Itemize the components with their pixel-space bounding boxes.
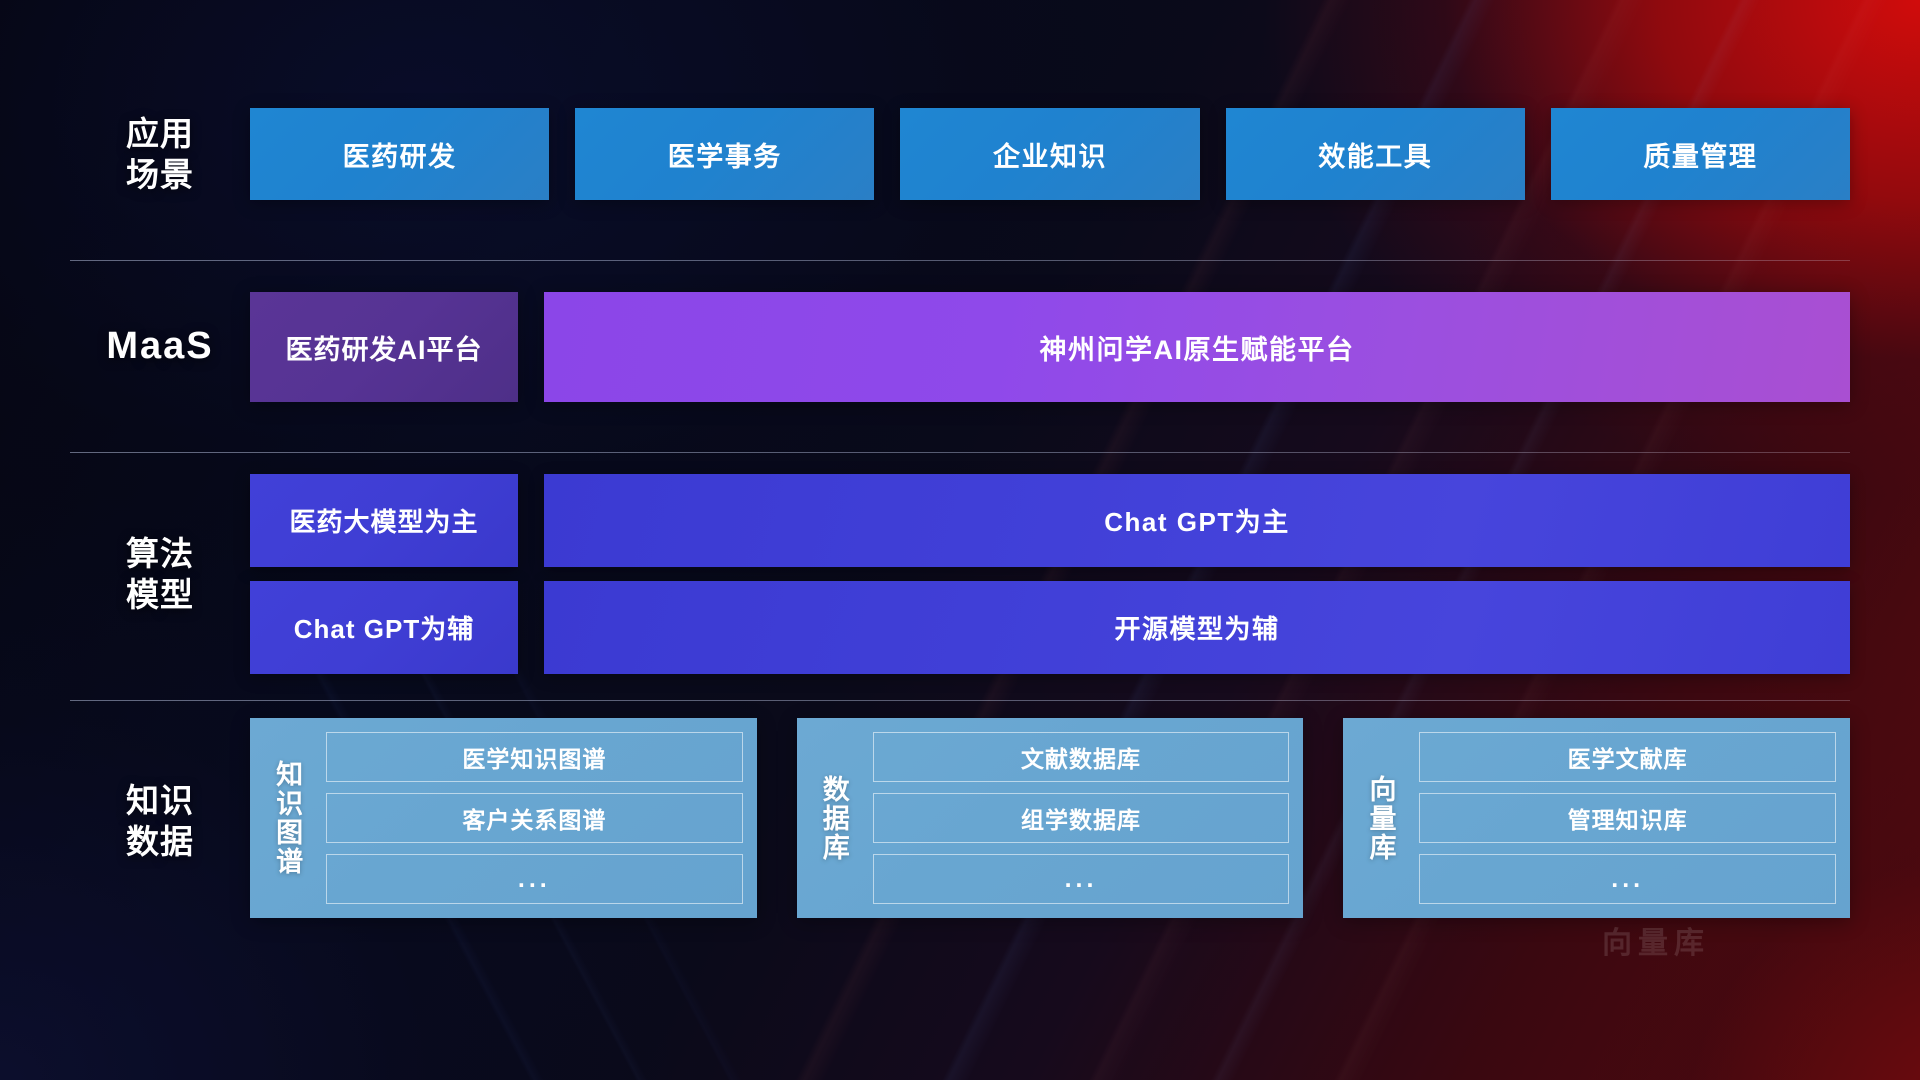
row-label-knowledge-data: 知识 数据 — [70, 718, 250, 863]
algorithm-line-secondary: Chat GPT为辅 开源模型为辅 — [250, 581, 1850, 674]
algorithm-line-primary: 医药大模型为主 Chat GPT为主 — [250, 474, 1850, 567]
app-card-quality-management[interactable]: 质量管理 — [1551, 108, 1850, 200]
algo-card-pharma-llm-primary[interactable]: 医药大模型为主 — [250, 474, 518, 567]
knowledge-group-vector-store[interactable]: 向量库 医学文献库 管理知识库 ... — [1343, 718, 1850, 918]
algo-card-opensource-secondary[interactable]: 开源模型为辅 — [544, 581, 1850, 674]
algorithm-lines: 医药大模型为主 Chat GPT为主 Chat GPT为辅 开源模型为辅 — [250, 474, 1850, 674]
row-body-application-scenarios: 医药研发 医学事务 企业知识 效能工具 质量管理 — [250, 108, 1850, 200]
knowledge-item-customer-relation-graph[interactable]: 客户关系图谱 — [326, 793, 743, 843]
knowledge-item-more-ellipsis[interactable]: ... — [326, 854, 743, 904]
knowledge-item-list: 医学文献库 管理知识库 ... — [1419, 732, 1836, 904]
divider-application-maas — [70, 260, 1850, 261]
knowledge-item-list: 医学知识图谱 客户关系图谱 ... — [326, 732, 743, 904]
app-card-drug-rd[interactable]: 医药研发 — [250, 108, 549, 200]
knowledge-item-omics-database[interactable]: 组学数据库 — [873, 793, 1290, 843]
row-maas: MaaS 医药研发AI平台 神州问学AI原生赋能平台 — [70, 292, 1850, 402]
knowledge-item-literature-database[interactable]: 文献数据库 — [873, 732, 1290, 782]
knowledge-item-list: 文献数据库 组学数据库 ... — [873, 732, 1290, 904]
row-label-algorithm-models: 算法 模型 — [70, 533, 250, 616]
knowledge-group-title-vector-store: 向量库 — [1353, 732, 1407, 904]
knowledge-group-title-knowledge-graph: 知识图谱 — [260, 732, 314, 904]
row-algorithm-models: 算法 模型 医药大模型为主 Chat GPT为主 Chat GPT为辅 开源模型… — [70, 474, 1850, 674]
knowledge-item-more-ellipsis[interactable]: ... — [873, 854, 1290, 904]
knowledge-group-title-database: 数据库 — [807, 732, 861, 904]
row-body-knowledge-data: 知识图谱 医学知识图谱 客户关系图谱 ... 数据库 文献数据库 组学数据库 .… — [250, 718, 1850, 918]
row-body-algorithm-models: 医药大模型为主 Chat GPT为主 Chat GPT为辅 开源模型为辅 — [250, 474, 1850, 674]
knowledge-item-management-knowledge-store[interactable]: 管理知识库 — [1419, 793, 1836, 843]
app-card-medical-affairs[interactable]: 医学事务 — [575, 108, 874, 200]
row-body-maas: 医药研发AI平台 神州问学AI原生赋能平台 — [250, 292, 1850, 402]
row-application-scenarios: 应用 场景 医药研发 医学事务 企业知识 效能工具 质量管理 — [70, 108, 1850, 200]
app-card-efficiency-tools[interactable]: 效能工具 — [1226, 108, 1525, 200]
knowledge-item-medical-knowledge-graph[interactable]: 医学知识图谱 — [326, 732, 743, 782]
maas-card-drug-rd-ai-platform[interactable]: 医药研发AI平台 — [250, 292, 518, 402]
diagram-canvas: 应用 场景 医药研发 医学事务 企业知识 效能工具 质量管理 MaaS 医药研发… — [0, 0, 1920, 1080]
knowledge-group-database[interactable]: 数据库 文献数据库 组学数据库 ... — [797, 718, 1304, 918]
row-label-application-scenarios: 应用 场景 — [70, 113, 250, 196]
maas-grid: 医药研发AI平台 神州问学AI原生赋能平台 — [250, 292, 1850, 402]
knowledge-item-medical-literature-store[interactable]: 医学文献库 — [1419, 732, 1836, 782]
knowledge-group-knowledge-graph[interactable]: 知识图谱 医学知识图谱 客户关系图谱 ... — [250, 718, 757, 918]
knowledge-group-grid: 知识图谱 医学知识图谱 客户关系图谱 ... 数据库 文献数据库 组学数据库 .… — [250, 718, 1850, 918]
row-knowledge-data: 知识 数据 知识图谱 医学知识图谱 客户关系图谱 ... 数据库 — [70, 718, 1850, 918]
divider-algorithm-knowledge — [70, 700, 1850, 701]
algo-card-chatgpt-secondary[interactable]: Chat GPT为辅 — [250, 581, 518, 674]
maas-card-shenzhou-wenxue-platform[interactable]: 神州问学AI原生赋能平台 — [544, 292, 1850, 402]
knowledge-item-more-ellipsis[interactable]: ... — [1419, 854, 1836, 904]
row-label-maas: MaaS — [70, 323, 250, 371]
watermark-text: 向量库 — [1602, 918, 1710, 962]
app-card-enterprise-knowledge[interactable]: 企业知识 — [900, 108, 1199, 200]
algo-card-chatgpt-primary[interactable]: Chat GPT为主 — [544, 474, 1850, 567]
application-card-grid: 医药研发 医学事务 企业知识 效能工具 质量管理 — [250, 108, 1850, 200]
architecture-stack: 应用 场景 医药研发 医学事务 企业知识 效能工具 质量管理 MaaS 医药研发… — [0, 0, 1920, 1080]
divider-maas-algorithm — [70, 452, 1850, 453]
